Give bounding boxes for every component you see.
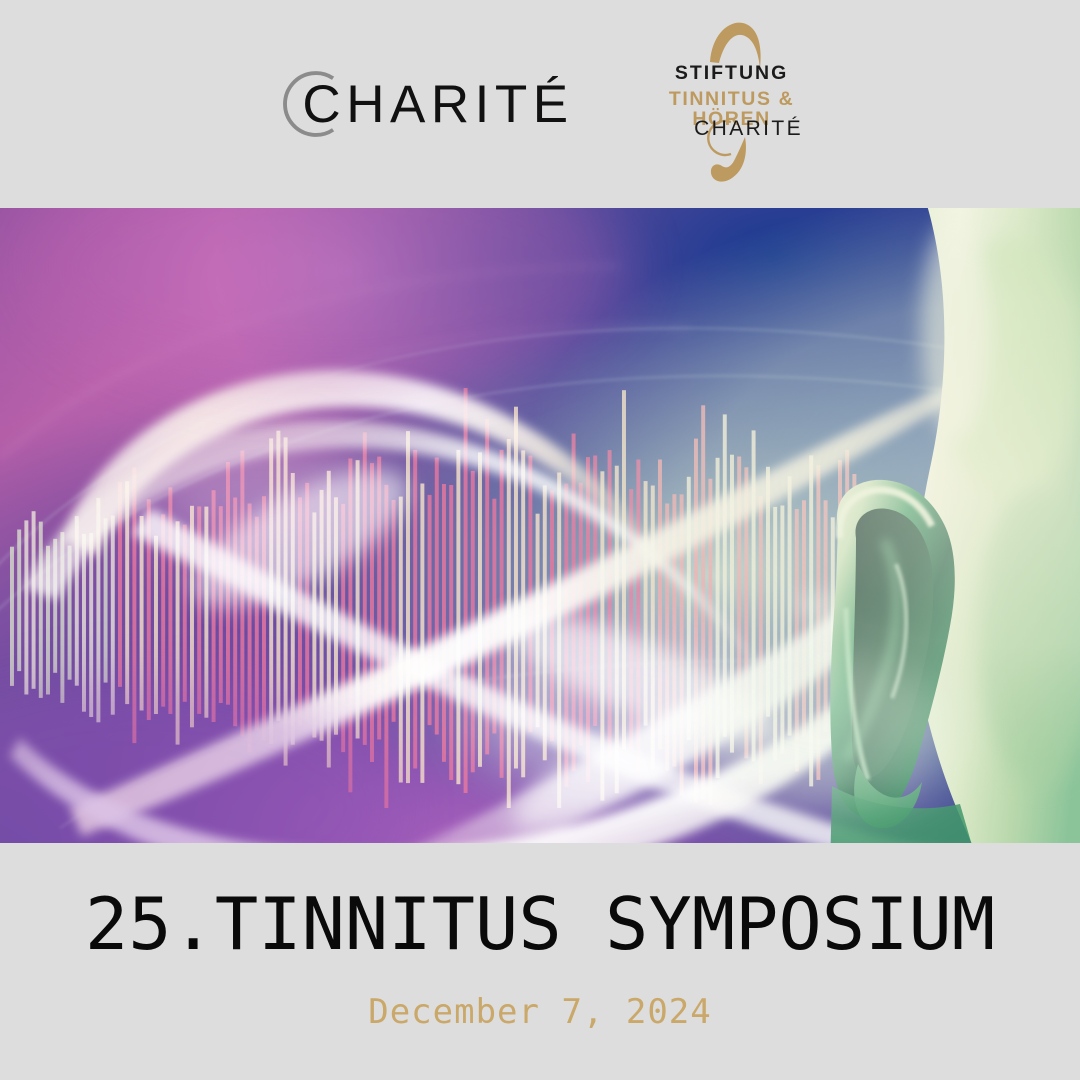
charite-logo: CHARITÉ <box>266 49 573 159</box>
logo-row: CHARITÉ STIFTUNG TINNITUS & HÖREN CHARIT… <box>0 0 1080 208</box>
artwork-canvas <box>0 208 1080 843</box>
tinnitus-soundwave-ear-artwork <box>0 208 1080 843</box>
footer-band: 25.TINNITUS SYMPOSIUM December 7, 2024 <box>0 843 1080 1080</box>
event-date: December 7, 2024 <box>0 995 1080 1029</box>
charite-wordmark: CHARITÉ <box>302 78 573 131</box>
page-title: 25.TINNITUS SYMPOSIUM <box>0 888 1080 960</box>
poster-root: CHARITÉ STIFTUNG TINNITUS & HÖREN CHARIT… <box>0 0 1080 1080</box>
stiftung-line-1: STIFTUNG <box>632 64 832 84</box>
stiftung-line-3: CHARITÉ <box>632 118 832 139</box>
stiftung-logo: STIFTUNG TINNITUS & HÖREN CHARITÉ <box>632 14 832 194</box>
header-band: CHARITÉ STIFTUNG TINNITUS & HÖREN CHARIT… <box>0 0 1080 208</box>
